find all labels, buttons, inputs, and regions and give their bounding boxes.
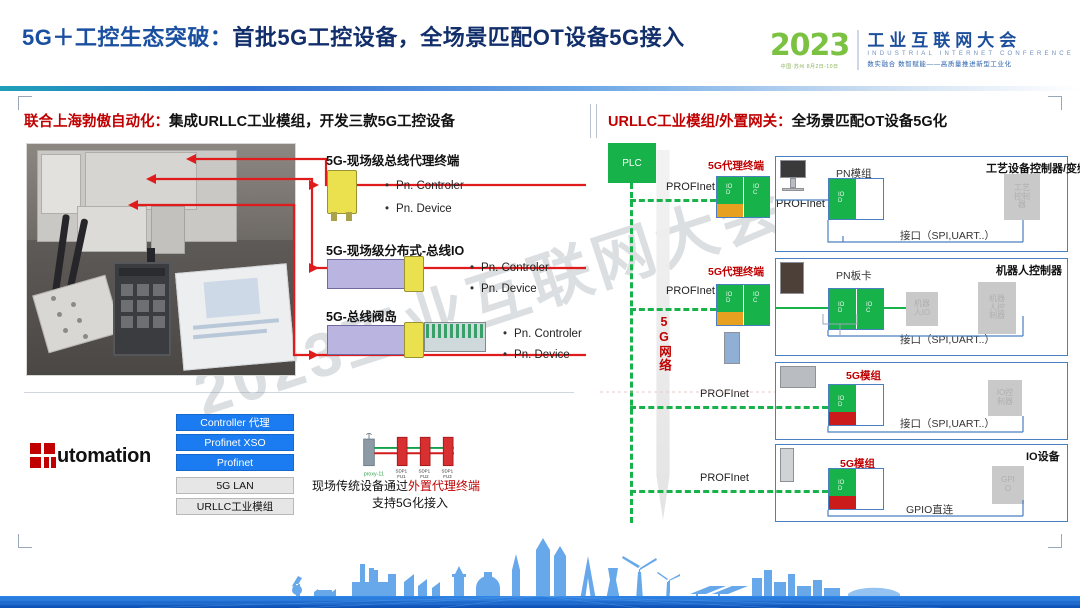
right-architecture-diagram: PLC 5G网络 工艺设备控制器/变频器 5G代理终端 PROFInet IOD… bbox=[600, 140, 1070, 532]
lab-setup-photo bbox=[26, 143, 296, 376]
section-header-left: 联合上海勃傲自动化：集成URLLC工业模组，开发三款5G工控设备 bbox=[24, 110, 455, 131]
proxy-terminal-io-c-2 bbox=[744, 285, 769, 325]
gateway-caption-line1-red: 外置代理终端 bbox=[408, 479, 480, 493]
gateway-caption-line1: 现场传统设备通过外置代理终端 bbox=[312, 477, 480, 494]
device-2-bullet-2: Pn. Device bbox=[470, 283, 537, 295]
automation-brand-text: utomation bbox=[57, 445, 151, 468]
device-title-1: 5G-现场级总线代理终端 bbox=[326, 150, 459, 169]
row3-links bbox=[775, 362, 1068, 440]
section-header-right-red: URLLC工业模组/外置网关： bbox=[608, 114, 792, 130]
5g-network-label: 5G网络 bbox=[652, 315, 674, 372]
conference-logo: 2023 中国·苏州 8月2日-10日 工业互联网大会 INDUSTRIAL I… bbox=[770, 30, 1074, 70]
device-title-2: 5G-现场级分布式-总线IO bbox=[326, 240, 464, 259]
device-image-1-pin-a bbox=[331, 212, 337, 221]
device-1-bullet-2: Pn. Device bbox=[385, 203, 452, 215]
device-image-3-head bbox=[404, 322, 424, 358]
row4-links bbox=[775, 444, 1068, 522]
stack-item-5g-lan[interactable]: 5G LAN bbox=[176, 477, 294, 494]
gateway-mini-diagram: proxy-11 SDP1 SDP1 SDP1 FU1 FU2 FU3 bbox=[355, 432, 475, 478]
gateway-caption-line2: 支持5G化接入 bbox=[372, 494, 448, 511]
logo-name-cn: 工业互联网大会 bbox=[867, 32, 1074, 51]
stack-item-profinet-xso[interactable]: Profinet XSO bbox=[176, 434, 294, 451]
corner-mark-top-left bbox=[18, 96, 32, 110]
device-1-bullet-1: Pn. Controler bbox=[385, 180, 464, 192]
section-header-left-black: 集成URLLC工业模组，开发三款5G工控设备 bbox=[169, 114, 455, 130]
automation-mark-icon bbox=[30, 443, 56, 469]
logo-year-subtitle: 中国·苏州 8月2日-10日 bbox=[781, 63, 839, 70]
logo-divider bbox=[857, 30, 859, 70]
proxy-terminal-status-2 bbox=[717, 312, 743, 325]
device-image-2-bar bbox=[327, 259, 405, 289]
io-label-d-2: IOD bbox=[726, 292, 732, 304]
device-image-1 bbox=[327, 170, 357, 214]
page-title-part2: 首批5G工控设备，全场景匹配OT设备5G接入 bbox=[232, 25, 684, 50]
stack-item-urllc-module[interactable]: URLLC工业模组 bbox=[176, 498, 294, 515]
svg-text:SDP1: SDP1 bbox=[419, 469, 431, 474]
logo-year: 2023 bbox=[770, 31, 850, 61]
section-divider-b bbox=[596, 104, 597, 138]
device-2-bullet-1: Pn. Controler bbox=[470, 262, 549, 274]
proxy-terminal-label-1: 5G代理终端 bbox=[708, 158, 764, 173]
io-label-d-1: IOD bbox=[726, 184, 732, 196]
io-label-c-1: IOC bbox=[753, 184, 759, 196]
header-rule bbox=[0, 86, 1080, 91]
page-title: 5G＋工控生态突破：首批5G工控设备，全场景匹配OT设备5G接入 bbox=[22, 20, 685, 52]
section-header-right-black: 全场景匹配OT设备5G化 bbox=[792, 114, 947, 130]
profinet-label-2-left: PROFInet bbox=[666, 285, 715, 297]
section-header-right: URLLC工业模组/外置网关：全场景匹配OT设备5G化 bbox=[608, 110, 947, 131]
device-image-3-bar bbox=[327, 325, 405, 355]
corner-mark-top-right bbox=[1048, 96, 1062, 110]
automation-brand: utomation bbox=[30, 443, 151, 469]
row2-links bbox=[775, 258, 1068, 356]
section-header-left-red: 联合上海勃傲自动化： bbox=[24, 114, 169, 130]
5g-network-spine bbox=[630, 183, 633, 523]
proxy-terminal-status-1 bbox=[717, 204, 743, 217]
skyline-decoration bbox=[0, 538, 1080, 608]
device-3-bullet-2: Pn. Device bbox=[503, 349, 570, 361]
device-3-bullet-1: Pn. Controler bbox=[503, 328, 582, 340]
stack-item-profinet[interactable]: Profinet bbox=[176, 454, 294, 471]
device-icon-switch-2 bbox=[724, 332, 740, 364]
left-panel-divider bbox=[24, 392, 574, 393]
gateway-caption-line1-black: 现场传统设备通过 bbox=[312, 479, 408, 493]
logo-slogan: 数实融合 数智赋能——高质量推进新型工业化 bbox=[867, 58, 1074, 68]
device-image-3-valve-teeth bbox=[426, 324, 484, 338]
io-label-c-2: IOC bbox=[753, 292, 759, 304]
device-title-3: 5G-总线阀岛 bbox=[326, 306, 397, 325]
page-title-part1: 5G＋工控生态突破： bbox=[22, 25, 232, 50]
proxy-terminal-io-c-1 bbox=[744, 177, 769, 217]
logo-name-en: INDUSTRIAL INTERNET CONFERENCE bbox=[867, 51, 1074, 57]
profinet-label-1-left: PROFInet bbox=[666, 181, 715, 193]
profinet-label-4: PROFInet bbox=[700, 472, 749, 484]
svg-text:SDP1: SDP1 bbox=[442, 469, 454, 474]
svg-text:SDP1: SDP1 bbox=[396, 469, 408, 474]
device-image-1-pin-b bbox=[346, 212, 352, 221]
row1-links bbox=[775, 156, 1068, 252]
plc-block: PLC bbox=[608, 143, 656, 183]
device-image-2-head bbox=[404, 256, 424, 292]
dash-link-1 bbox=[630, 199, 716, 202]
profinet-label-3: PROFInet bbox=[700, 388, 749, 400]
dash-link-2 bbox=[630, 308, 716, 311]
section-divider-a bbox=[590, 104, 591, 138]
page-header: 5G＋工控生态突破：首批5G工控设备，全场景匹配OT设备5G接入 2023 中国… bbox=[0, 0, 1080, 92]
proxy-terminal-label-2: 5G代理终端 bbox=[708, 264, 764, 279]
stack-item-controller-agent[interactable]: Controller 代理 bbox=[176, 414, 294, 431]
